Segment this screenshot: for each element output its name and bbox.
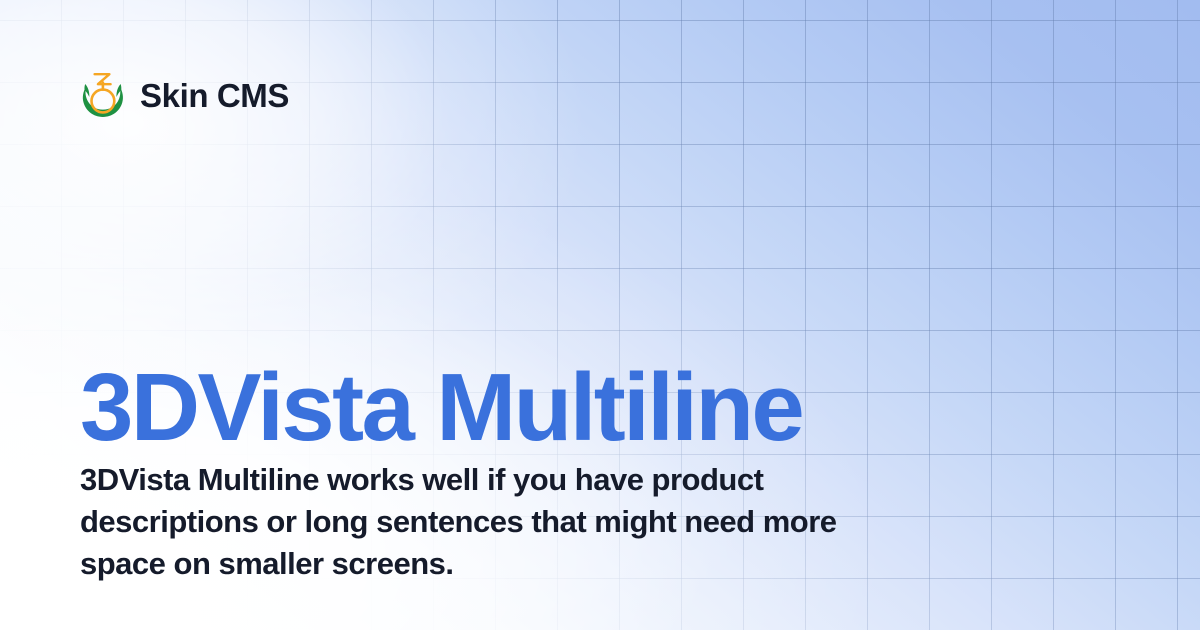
hero-subtitle: 3DVista Multiline works well if you have… — [80, 459, 880, 585]
skincms-crescent-logo-icon — [80, 70, 126, 120]
hero-headline: 3DVista Multiline — [80, 360, 802, 456]
brand-name-label: Skin CMS — [140, 79, 289, 112]
brand-lockup[interactable]: Skin CMS — [80, 70, 289, 120]
og-banner-card: Skin CMS 3DVista Multiline 3DVista Multi… — [0, 0, 1200, 630]
card-content: Skin CMS 3DVista Multiline 3DVista Multi… — [0, 0, 1200, 630]
